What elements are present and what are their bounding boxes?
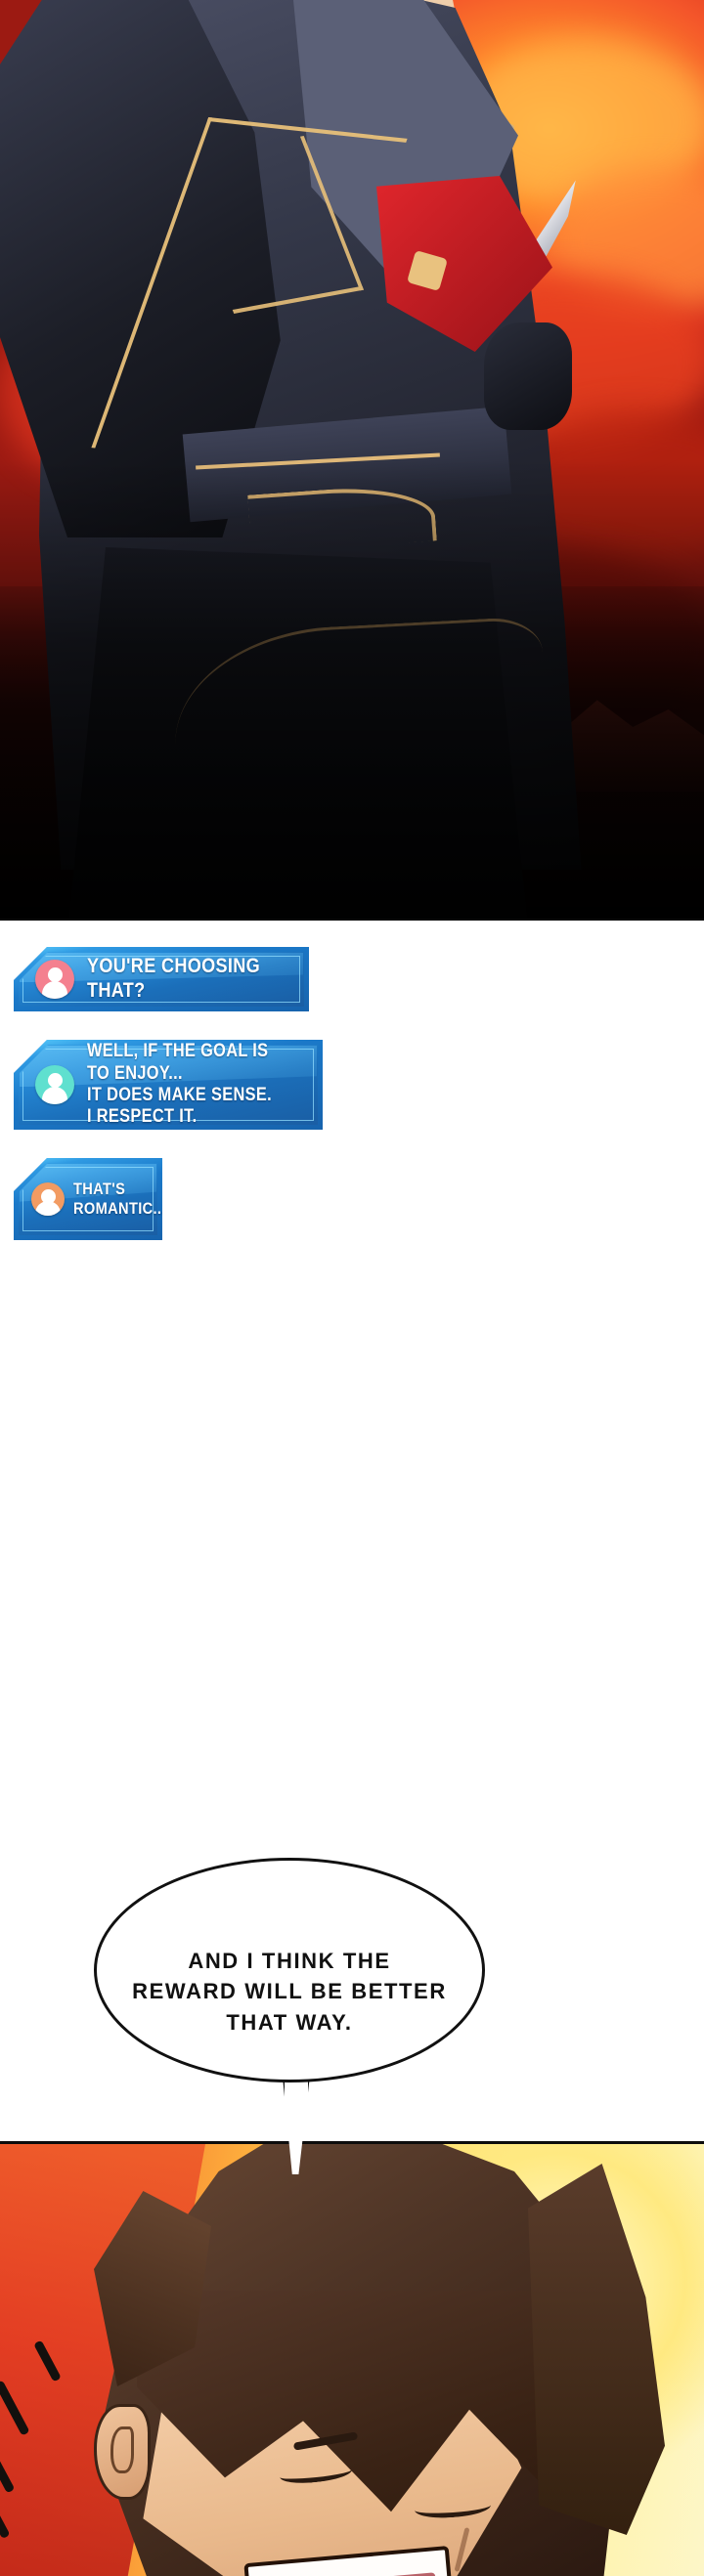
user-avatar-icon <box>35 960 74 999</box>
character-ear <box>94 2404 151 2500</box>
user-avatar-icon <box>31 1182 65 1216</box>
speech-balloon-tail <box>282 2067 311 2174</box>
panel-vignette <box>0 459 704 921</box>
figure-glove <box>484 322 572 430</box>
speech-balloon-group: AND I THINK THE REWARD WILL BE BETTER TH… <box>94 1858 505 2180</box>
chat-bubble-3[interactable]: THAT'S ROMANTIC.... <box>14 1158 162 1240</box>
chat-bubble-2[interactable]: WELL, IF THE GOAL IS TO ENJOY... IT DOES… <box>14 1040 323 1130</box>
top-panel-image <box>0 0 704 921</box>
speech-balloon: AND I THINK THE REWARD WILL BE BETTER TH… <box>94 1858 485 2082</box>
speech-balloon-text: AND I THINK THE REWARD WILL BE BETTER TH… <box>132 1946 447 2038</box>
ear-inner <box>110 2426 134 2473</box>
webtoon-page: YOU'RE CHOOSING THAT? WELL, IF THE GOAL … <box>0 0 704 2576</box>
chat-bubble-3-text: THAT'S ROMANTIC.... <box>73 1180 170 1219</box>
mouth-inner <box>264 2572 439 2576</box>
chat-bubble-1[interactable]: YOU'RE CHOOSING THAT? <box>14 947 309 1011</box>
user-avatar-icon <box>35 1065 74 1104</box>
chat-bubble-2-text: WELL, IF THE GOAL IS TO ENJOY... IT DOES… <box>87 1041 277 1129</box>
chat-bubble-1-text: YOU'RE CHOOSING THAT? <box>87 955 264 1004</box>
bottom-panel-image <box>0 2141 704 2576</box>
